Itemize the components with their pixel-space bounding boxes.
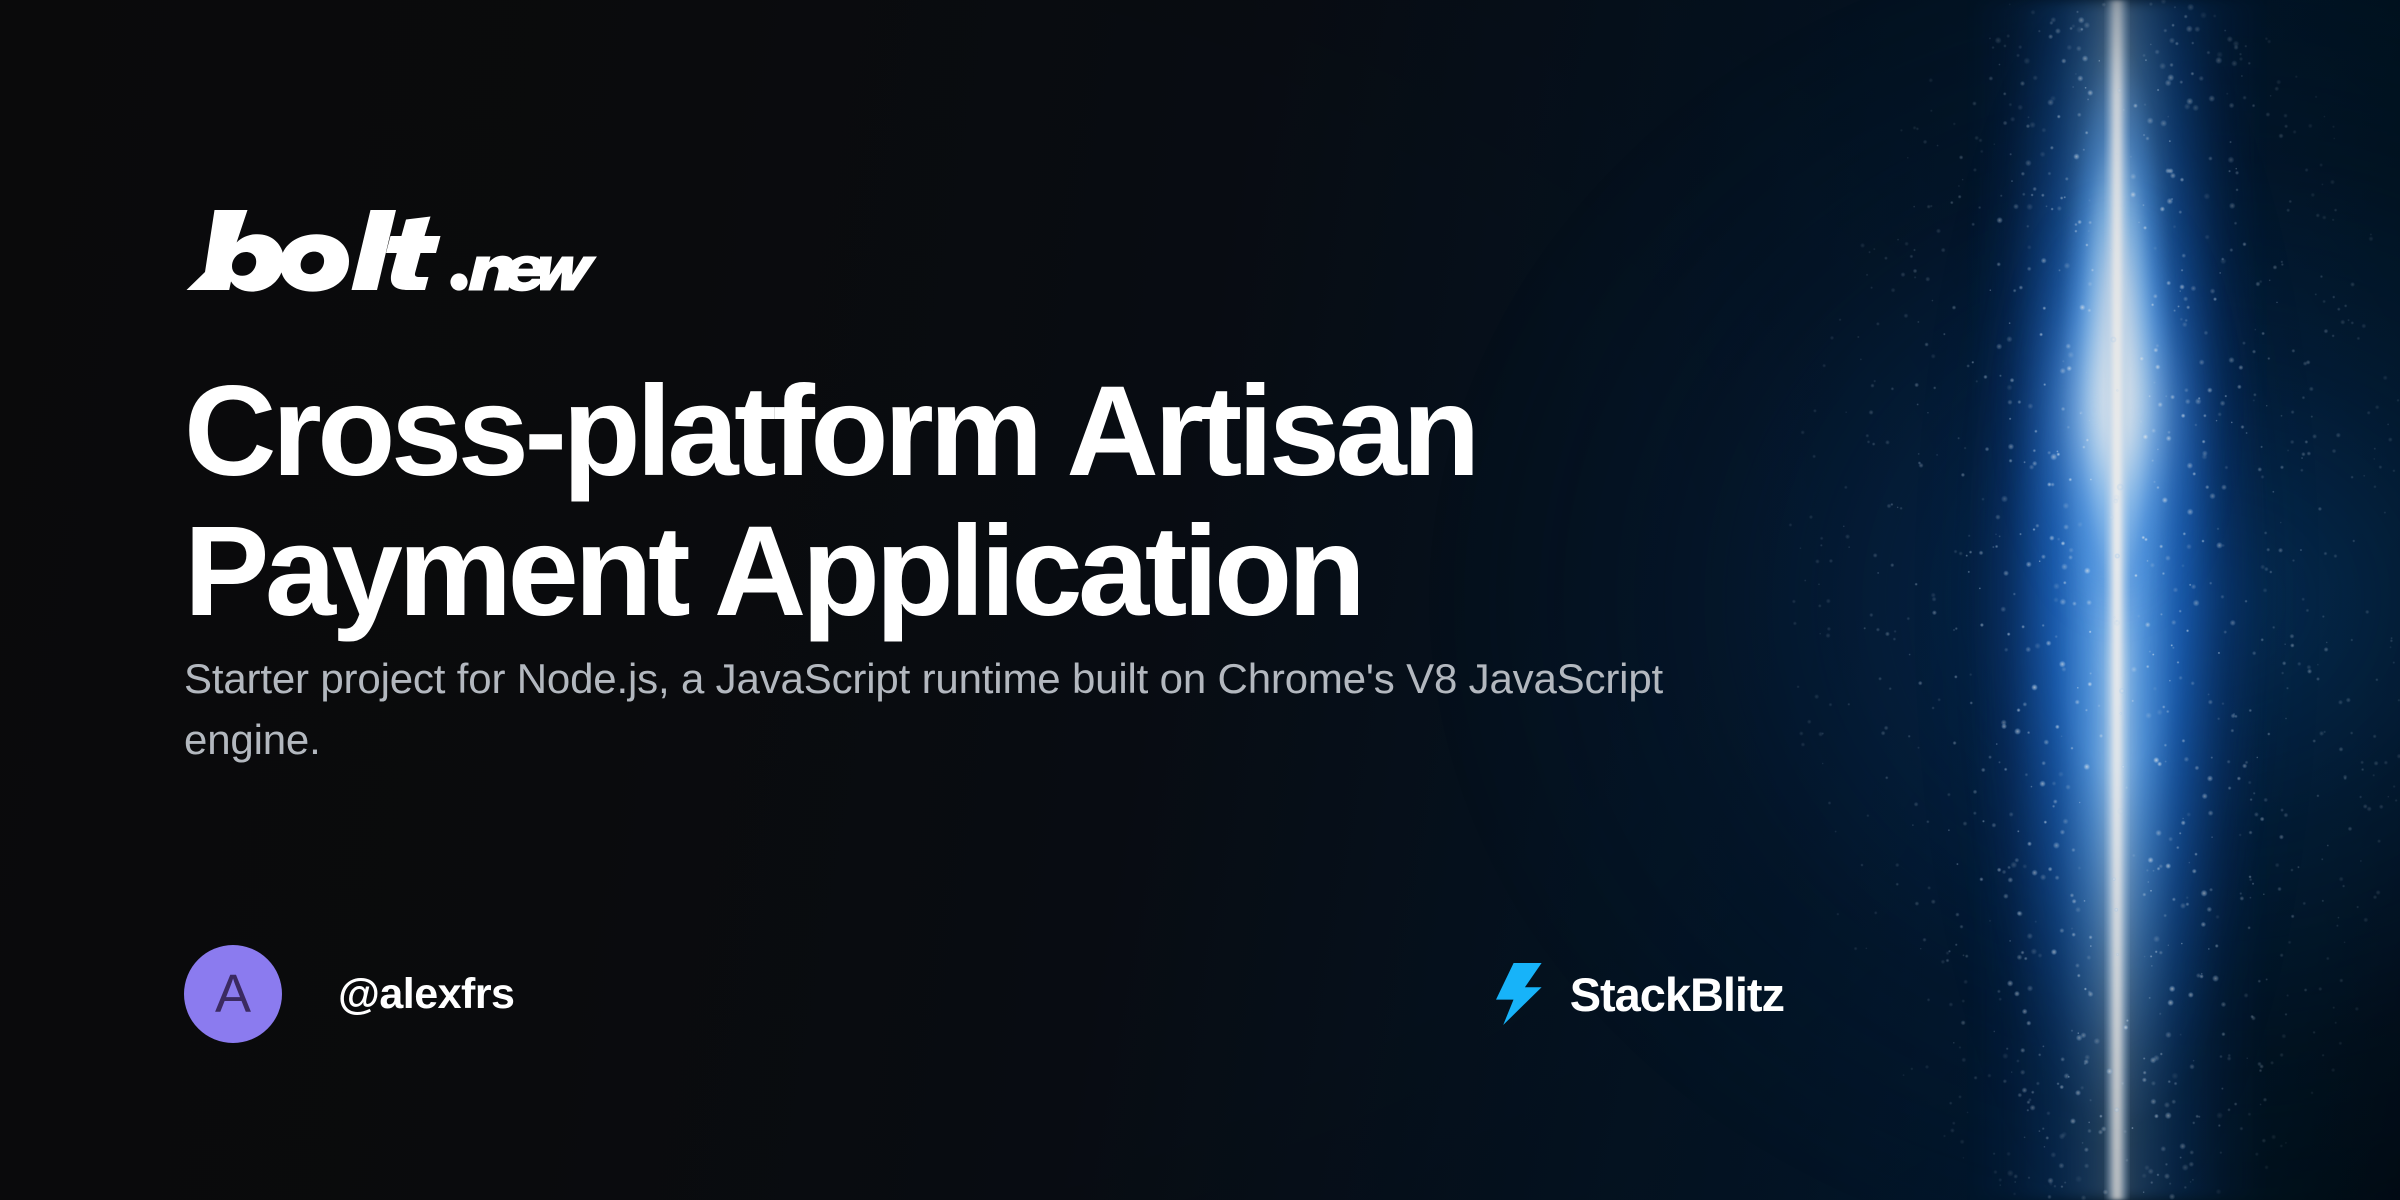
stackblitz-logo[interactable]: StackBlitz [1496,963,1784,1025]
og-card-root: Cross-platform Artisan Payment Applicati… [0,0,2400,1200]
card-footer: A @alexfrs StackBlitz [184,940,2216,1048]
lightning-bolt-icon [1496,963,1542,1025]
avatar: A [184,945,282,1043]
stackblitz-wordmark: StackBlitz [1570,971,1784,1018]
card-content: Cross-platform Artisan Payment Applicati… [0,0,2400,1200]
page-subtitle: Starter project for Node.js, a JavaScrip… [184,648,1804,771]
page-title: Cross-platform Artisan Payment Applicati… [184,362,1744,641]
bolt-new-logo[interactable] [184,208,598,294]
author-handle[interactable]: @alexfrs [338,970,514,1019]
avatar-initial: A [215,967,251,1021]
author-block[interactable]: A @alexfrs [184,945,514,1043]
